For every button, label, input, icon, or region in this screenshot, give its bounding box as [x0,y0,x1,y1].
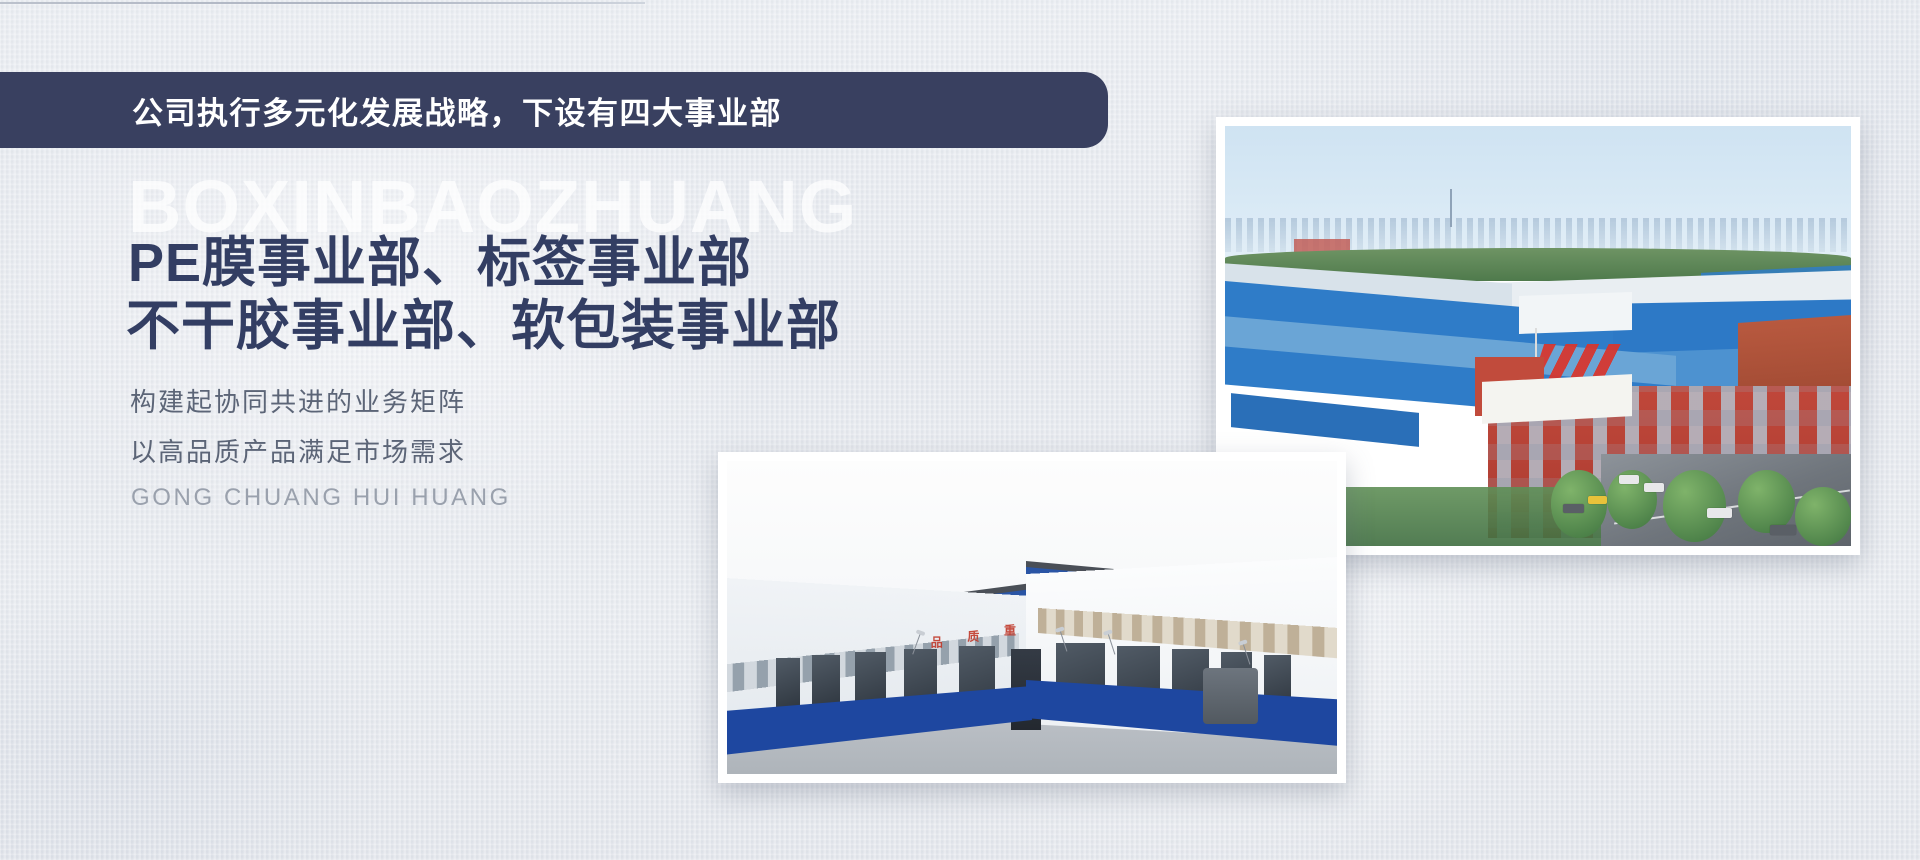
hero-subline-2: 以高品质产品满足市场需求 [130,432,466,469]
aerial-tree [1795,487,1851,546]
hero-headline-line-1: PE膜事业部、标签事业部 [128,232,752,295]
aerial-tree [1663,470,1726,541]
workshop-roller-shutter-door [1203,668,1258,724]
aerial-road-vehicle [1707,508,1732,518]
hero-pinyin-text: GONG CHUANG HUI HUANG [131,484,511,512]
photo-workshop-image: 品 质 重 [727,461,1337,774]
aerial-parked-car [1619,475,1639,484]
hero-subline-1: 构建起协同共进的业务矩阵 [130,382,466,419]
workshop-wall-red-character: 品 [928,636,945,664]
workshop-wall-red-character: 重 [1002,624,1019,652]
aerial-parked-car [1588,496,1607,504]
workshop-window [776,658,800,708]
top-divider-rule [0,2,645,4]
hero-headline-line-2: 不干胶事业部、软包装事业部 [126,295,841,358]
ribbon-banner-text: 公司执行多元化发展战略，下设有四大事业部 [132,88,782,133]
aerial-parked-car [1563,504,1584,513]
aerial-antenna-tower [1450,189,1452,227]
workshop-window [812,655,839,708]
aerial-roof-blue-6 [1231,393,1419,446]
photo-card-workshop-exterior[interactable]: 品 质 重 [718,452,1346,783]
headline-ribbon-banner: 公司执行多元化发展战略，下设有四大事业部 [0,72,1108,148]
aerial-tree [1738,470,1794,533]
workshop-wall-red-character: 质 [965,630,982,658]
aerial-parked-car [1644,483,1664,492]
aerial-white-flat-roof [1482,374,1632,424]
aerial-road-vehicle [1770,525,1796,535]
